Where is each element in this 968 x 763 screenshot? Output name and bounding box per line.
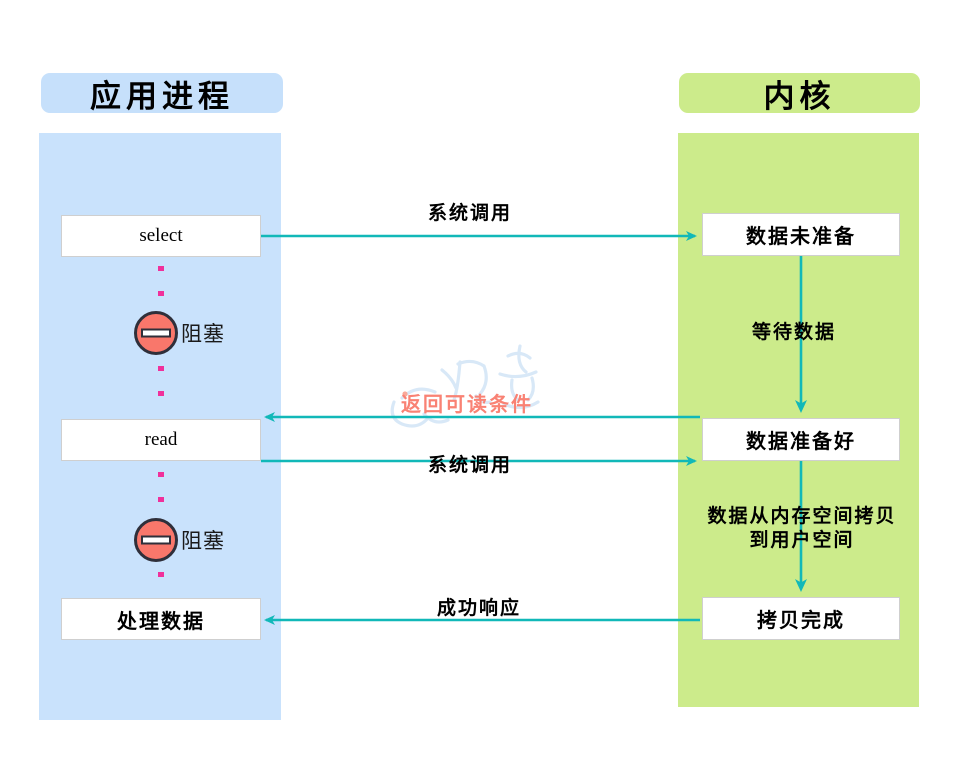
blocked-label-read: 阻塞 xyxy=(181,525,225,555)
blocked-marker-read: 阻塞 xyxy=(134,518,225,562)
blocked-marker-select: 阻塞 xyxy=(134,311,225,355)
label-copy-line2: 到用户空间 xyxy=(749,530,854,551)
label-copy-line1: 数据从内存空间拷贝 xyxy=(707,506,896,527)
label-success-response: 成功响应 xyxy=(437,593,521,620)
no-entry-icon xyxy=(134,311,178,355)
box-data-ready[interactable]: 数据准备好 xyxy=(702,418,900,461)
box-select[interactable]: select xyxy=(61,215,261,257)
no-entry-icon xyxy=(134,518,178,562)
blocked-label-select: 阻塞 xyxy=(181,318,225,348)
diagram-canvas: 应用进程 内核 xyxy=(0,0,968,763)
box-data-not-ready[interactable]: 数据未准备 xyxy=(702,213,900,256)
kernel-header: 内核 xyxy=(679,73,920,113)
box-process-data[interactable]: 处理数据 xyxy=(61,598,261,640)
box-read[interactable]: read xyxy=(61,419,261,461)
label-copy-to-user-space: 数据从内存空间拷贝 到用户空间 xyxy=(697,505,907,554)
label-system-call-2: 系统调用 xyxy=(428,450,512,477)
box-copy-complete[interactable]: 拷贝完成 xyxy=(702,597,900,640)
label-return-readable-condition: 返回可读条件 xyxy=(401,388,533,417)
label-wait-for-data: 等待数据 xyxy=(752,317,836,344)
label-system-call-1: 系统调用 xyxy=(428,198,512,225)
app-process-header: 应用进程 xyxy=(41,73,283,113)
